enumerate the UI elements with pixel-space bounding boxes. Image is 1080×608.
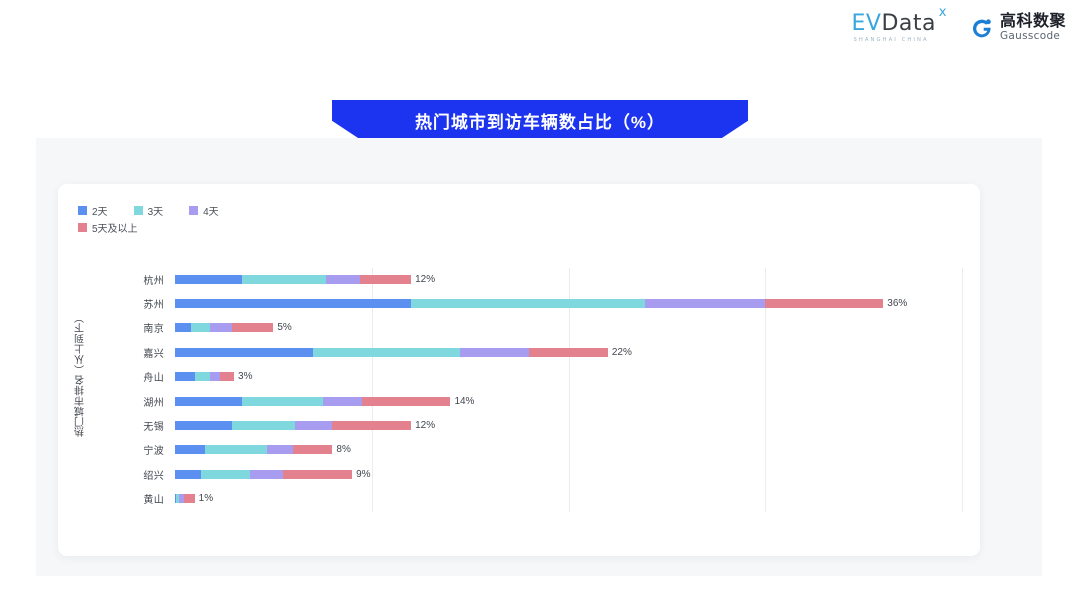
bar-segment-2天[interactable] — [175, 445, 205, 454]
bar-segment-3天[interactable] — [201, 470, 250, 479]
evdata-logo-tagline: SHANGHAI CHINA — [854, 38, 929, 43]
evdata-logo-wordmark: EVDatax — [852, 13, 936, 35]
category-label-绍兴: 绍兴 — [98, 467, 175, 482]
gausscode-mark-icon — [970, 17, 993, 40]
bar-rows: 杭州12%苏州36%南京5%嘉兴22%舟山3%湖州14%无锡12%宁波8%绍兴9… — [98, 268, 962, 512]
bar-row[interactable]: 南京5% — [98, 317, 962, 339]
chart-title-banner: 热门城市到访车辆数占比（%） — [332, 100, 748, 140]
category-label-苏州: 苏州 — [98, 296, 175, 311]
bar-segment-5天及以上[interactable] — [362, 397, 451, 406]
bar-value-label: 22% — [612, 348, 632, 357]
bar-track: 14% — [175, 390, 962, 412]
stacked-bar[interactable] — [175, 421, 411, 430]
bar-segment-4天[interactable] — [326, 275, 359, 284]
bar-row[interactable]: 绍兴9% — [98, 463, 962, 485]
category-label-杭州: 杭州 — [98, 272, 175, 287]
bar-value-label: 14% — [454, 397, 474, 406]
stacked-bar[interactable] — [175, 470, 352, 479]
evdata-logo: EVDatax SHANGHAI CHINA — [852, 13, 936, 43]
bar-segment-3天[interactable] — [242, 397, 323, 406]
bar-segment-4天[interactable] — [645, 299, 765, 308]
gausscode-logo-cn: 高科数聚 — [1000, 14, 1066, 31]
bar-segment-5天及以上[interactable] — [293, 445, 332, 454]
bar-segment-3天[interactable] — [232, 421, 295, 430]
stacked-bar[interactable] — [175, 372, 234, 381]
plot-area: 杭州12%苏州36%南京5%嘉兴22%舟山3%湖州14%无锡12%宁波8%绍兴9… — [98, 268, 962, 512]
stacked-bar[interactable] — [175, 323, 273, 332]
stacked-bar[interactable] — [175, 397, 450, 406]
category-label-黄山: 黄山 — [98, 491, 175, 506]
bar-row[interactable]: 苏州36% — [98, 292, 962, 314]
bar-segment-3天[interactable] — [313, 348, 461, 357]
bar-track: 12% — [175, 268, 962, 290]
category-label-舟山: 舟山 — [98, 369, 175, 384]
bar-segment-3天[interactable] — [411, 299, 645, 308]
stacked-bar[interactable] — [175, 275, 411, 284]
stacked-bar[interactable] — [175, 445, 332, 454]
bar-row[interactable]: 黄山1% — [98, 488, 962, 510]
bar-segment-4天[interactable] — [323, 397, 362, 406]
bar-segment-2天[interactable] — [175, 372, 195, 381]
gausscode-logo: 高科数聚 Gausscode — [970, 14, 1066, 42]
bar-segment-3天[interactable] — [205, 445, 268, 454]
bar-segment-5天及以上[interactable] — [529, 348, 608, 357]
bar-value-label: 3% — [238, 372, 252, 381]
bar-segment-4天[interactable] — [267, 445, 293, 454]
bar-segment-4天[interactable] — [210, 323, 232, 332]
bar-segment-4天[interactable] — [460, 348, 529, 357]
brand-header: EVDatax SHANGHAI CHINA 高科数聚 Gausscode — [852, 10, 1067, 46]
bar-segment-5天及以上[interactable] — [283, 470, 352, 479]
bar-track: 36% — [175, 292, 962, 314]
gausscode-logo-en: Gausscode — [1000, 31, 1066, 42]
evdata-logo-x-icon: x — [939, 6, 947, 19]
bar-segment-5天及以上[interactable] — [220, 372, 234, 381]
bar-row[interactable]: 嘉兴22% — [98, 341, 962, 363]
bar-segment-4天[interactable] — [295, 421, 332, 430]
stacked-bar[interactable] — [175, 348, 608, 357]
bar-segment-5天及以上[interactable] — [232, 323, 273, 332]
bar-segment-2天[interactable] — [175, 323, 191, 332]
bar-row[interactable]: 湖州14% — [98, 390, 962, 412]
bar-value-label: 8% — [336, 445, 350, 454]
gausscode-logo-text: 高科数聚 Gausscode — [1000, 14, 1066, 42]
bar-track: 8% — [175, 439, 962, 461]
bar-value-label: 1% — [199, 494, 213, 503]
bar-segment-2天[interactable] — [175, 397, 242, 406]
chart-card: 2天3天4天5天及以上 热门城市排名（从上到下） 杭州12%苏州36%南京5%嘉… — [58, 184, 980, 556]
bar-segment-2天[interactable] — [175, 348, 313, 357]
bar-value-label: 12% — [415, 275, 435, 284]
bar-row[interactable]: 杭州12% — [98, 268, 962, 290]
bar-value-label: 5% — [277, 323, 291, 332]
bar-row[interactable]: 宁波8% — [98, 439, 962, 461]
bar-track: 1% — [175, 488, 962, 510]
bar-segment-5天及以上[interactable] — [184, 494, 195, 503]
bar-segment-3天[interactable] — [191, 323, 211, 332]
chart-plot-wrapper: 热门城市排名（从上到下） 杭州12%苏州36%南京5%嘉兴22%舟山3%湖州14… — [58, 184, 980, 556]
category-label-湖州: 湖州 — [98, 394, 175, 409]
bar-row[interactable]: 舟山3% — [98, 366, 962, 388]
bar-track: 22% — [175, 341, 962, 363]
bar-track: 3% — [175, 366, 962, 388]
bar-segment-2天[interactable] — [175, 275, 242, 284]
bar-track: 12% — [175, 414, 962, 436]
bar-segment-4天[interactable] — [250, 470, 283, 479]
y-axis-title: 热门城市排名（从上到下） — [72, 270, 90, 480]
evdata-logo-data: Data — [881, 11, 936, 36]
bar-track: 5% — [175, 317, 962, 339]
bar-segment-3天[interactable] — [242, 275, 327, 284]
category-label-南京: 南京 — [98, 320, 175, 335]
bar-value-label: 9% — [356, 470, 370, 479]
bar-segment-2天[interactable] — [175, 470, 201, 479]
bar-segment-2天[interactable] — [175, 299, 411, 308]
category-label-宁波: 宁波 — [98, 442, 175, 457]
gridline-40 — [962, 268, 963, 512]
stacked-bar[interactable] — [175, 299, 883, 308]
bar-segment-5天及以上[interactable] — [332, 421, 411, 430]
bar-row[interactable]: 无锡12% — [98, 414, 962, 436]
bar-value-label: 12% — [415, 421, 435, 430]
bar-segment-4天[interactable] — [210, 372, 220, 381]
bar-track: 9% — [175, 463, 962, 485]
stacked-bar[interactable] — [175, 494, 195, 503]
bar-segment-3天[interactable] — [195, 372, 211, 381]
category-label-嘉兴: 嘉兴 — [98, 345, 175, 360]
bar-segment-2天[interactable] — [175, 421, 232, 430]
evdata-logo-ev: EV — [852, 11, 882, 36]
bar-segment-5天及以上[interactable] — [765, 299, 883, 308]
bar-segment-5天及以上[interactable] — [360, 275, 411, 284]
bar-value-label: 36% — [887, 299, 907, 308]
category-label-无锡: 无锡 — [98, 418, 175, 433]
